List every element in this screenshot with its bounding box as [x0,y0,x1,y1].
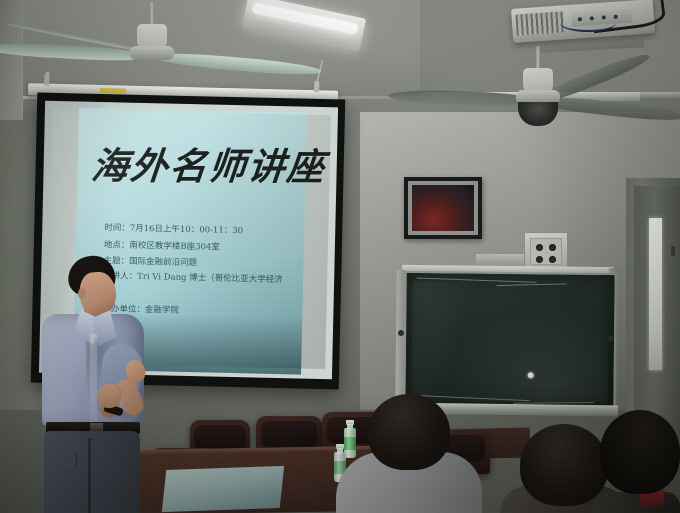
projector-cable-secondary [560,14,616,32]
panel-socket[interactable] [549,256,556,263]
presenter-trouser-pocket [50,452,77,472]
roller-bracket [314,81,319,92]
framed-picture [404,177,482,239]
panel-socket[interactable] [549,244,556,251]
slide-title: 海外名师讲座 [90,146,299,187]
wall-control-panel[interactable] [524,232,568,270]
chalkboard-knob [528,372,534,378]
door-handle[interactable] [671,246,675,256]
table-glass-top [162,466,284,512]
audience-member-2-head [520,424,608,506]
audience-member-3-body [592,492,680,513]
projector-vent [515,11,564,35]
audience-member-3-head [600,410,680,494]
chalkboard-screw [608,336,614,342]
presenter-ear [78,288,86,299]
panel-socket[interactable] [536,244,543,251]
presenter [28,256,164,513]
audience-member-1-head [368,394,450,470]
picture-artwork [412,185,474,231]
chalkboard-screw [398,330,404,336]
fan-hub [130,46,174,60]
presenter-trouser-seam [88,438,91,513]
ceiling-fan-right [536,46,540,126]
chalkboard [403,271,616,415]
door-glass-panel [649,218,662,370]
chair-backrest [194,425,246,450]
chalkboard-smudges [411,281,608,403]
roller-label-tab [100,88,126,94]
ceiling-fan-left [150,2,154,72]
control-panel-face [530,238,562,265]
presenter-shirt-placket [90,334,97,426]
picture-mat [408,181,478,235]
chair-backrest [261,421,318,447]
presenter-trousers [44,431,140,513]
roller-bracket [44,75,49,86]
panel-socket[interactable] [536,256,543,263]
left-wall-panel [0,0,23,120]
lecture-room-photo: 海外名师讲座 时间：7月16日上午10：00-11：30 地点：南校区教学楼B座… [0,0,680,513]
